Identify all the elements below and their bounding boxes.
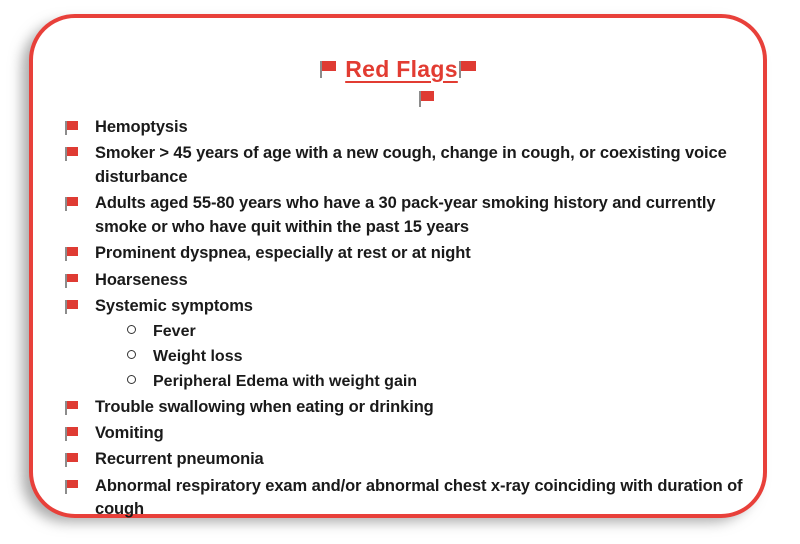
red-flags-list: HemoptysisSmoker > 45 years of age with … <box>65 116 745 525</box>
list-item-label: Smoker > 45 years of age with a new coug… <box>95 142 745 189</box>
list-marker <box>65 295 95 314</box>
sub-list-item-label: Peripheral Edema with weight gain <box>153 371 417 394</box>
list-item: Recurrent pneumonia <box>65 448 745 471</box>
red-flag-icon <box>65 401 78 415</box>
list-item: Adults aged 55-80 years who have a 30 pa… <box>65 192 745 239</box>
list-item-label: Recurrent pneumonia <box>95 448 264 471</box>
list-marker <box>65 242 95 261</box>
red-flags-card: Red Flags HemoptysisSmoker > 45 years of… <box>29 14 767 518</box>
sub-list-item-label: Weight loss <box>153 346 243 369</box>
list-marker <box>65 475 95 494</box>
list-item: Systemic symptoms <box>65 295 745 318</box>
list-item-label: Prominent dyspnea, especially at rest or… <box>95 242 471 265</box>
sub-list-marker <box>65 321 153 334</box>
red-flag-icon <box>65 121 78 135</box>
sub-list-item: Fever <box>65 321 745 344</box>
list-item-label: Trouble swallowing when eating or drinki… <box>95 396 434 419</box>
list-item: Vomiting <box>65 422 745 445</box>
red-flag-icon <box>65 300 78 314</box>
list-marker <box>65 422 95 441</box>
list-item-label: Adults aged 55-80 years who have a 30 pa… <box>95 192 745 239</box>
list-item: Smoker > 45 years of age with a new coug… <box>65 142 745 189</box>
list-item: Hoarseness <box>65 269 745 292</box>
red-flag-icon <box>65 147 78 161</box>
list-marker <box>65 396 95 415</box>
red-flag-icon <box>65 247 78 261</box>
red-flag-icon <box>320 61 336 78</box>
list-marker <box>65 448 95 467</box>
sub-list-marker <box>65 371 153 384</box>
title-row: Red Flags <box>33 52 763 86</box>
list-item-label: Hemoptysis <box>95 116 188 139</box>
list-item: Abnormal respiratory exam and/or abnorma… <box>65 475 745 522</box>
sub-list-marker <box>65 346 153 359</box>
hollow-circle-bullet-icon <box>127 325 136 334</box>
hollow-circle-bullet-icon <box>127 350 136 359</box>
list-marker <box>65 192 95 211</box>
list-item: Trouble swallowing when eating or drinki… <box>65 396 745 419</box>
sub-list-item: Weight loss <box>65 346 745 369</box>
hollow-circle-bullet-icon <box>127 375 136 384</box>
red-flag-icon <box>65 197 78 211</box>
sub-list-item-label: Fever <box>153 321 196 344</box>
list-item: Hemoptysis <box>65 116 745 139</box>
sub-list-item: Peripheral Edema with weight gain <box>65 371 745 394</box>
list-marker <box>65 142 95 161</box>
list-item-label: Abnormal respiratory exam and/or abnorma… <box>95 475 745 522</box>
list-marker <box>65 269 95 288</box>
red-flag-icon <box>65 480 78 494</box>
list-marker <box>65 116 95 135</box>
list-item-label: Hoarseness <box>95 269 188 292</box>
red-flag-icon <box>419 91 434 107</box>
red-flag-icon <box>459 61 476 78</box>
list-item-label: Vomiting <box>95 422 164 445</box>
slide-canvas: Red Flags HemoptysisSmoker > 45 years of… <box>0 0 800 544</box>
red-flag-icon <box>65 427 78 441</box>
page-title: Red Flags <box>345 56 458 83</box>
list-item: Prominent dyspnea, especially at rest or… <box>65 242 745 265</box>
list-item-label: Systemic symptoms <box>95 295 253 318</box>
red-flag-icon <box>65 274 78 288</box>
red-flag-icon <box>65 453 78 467</box>
